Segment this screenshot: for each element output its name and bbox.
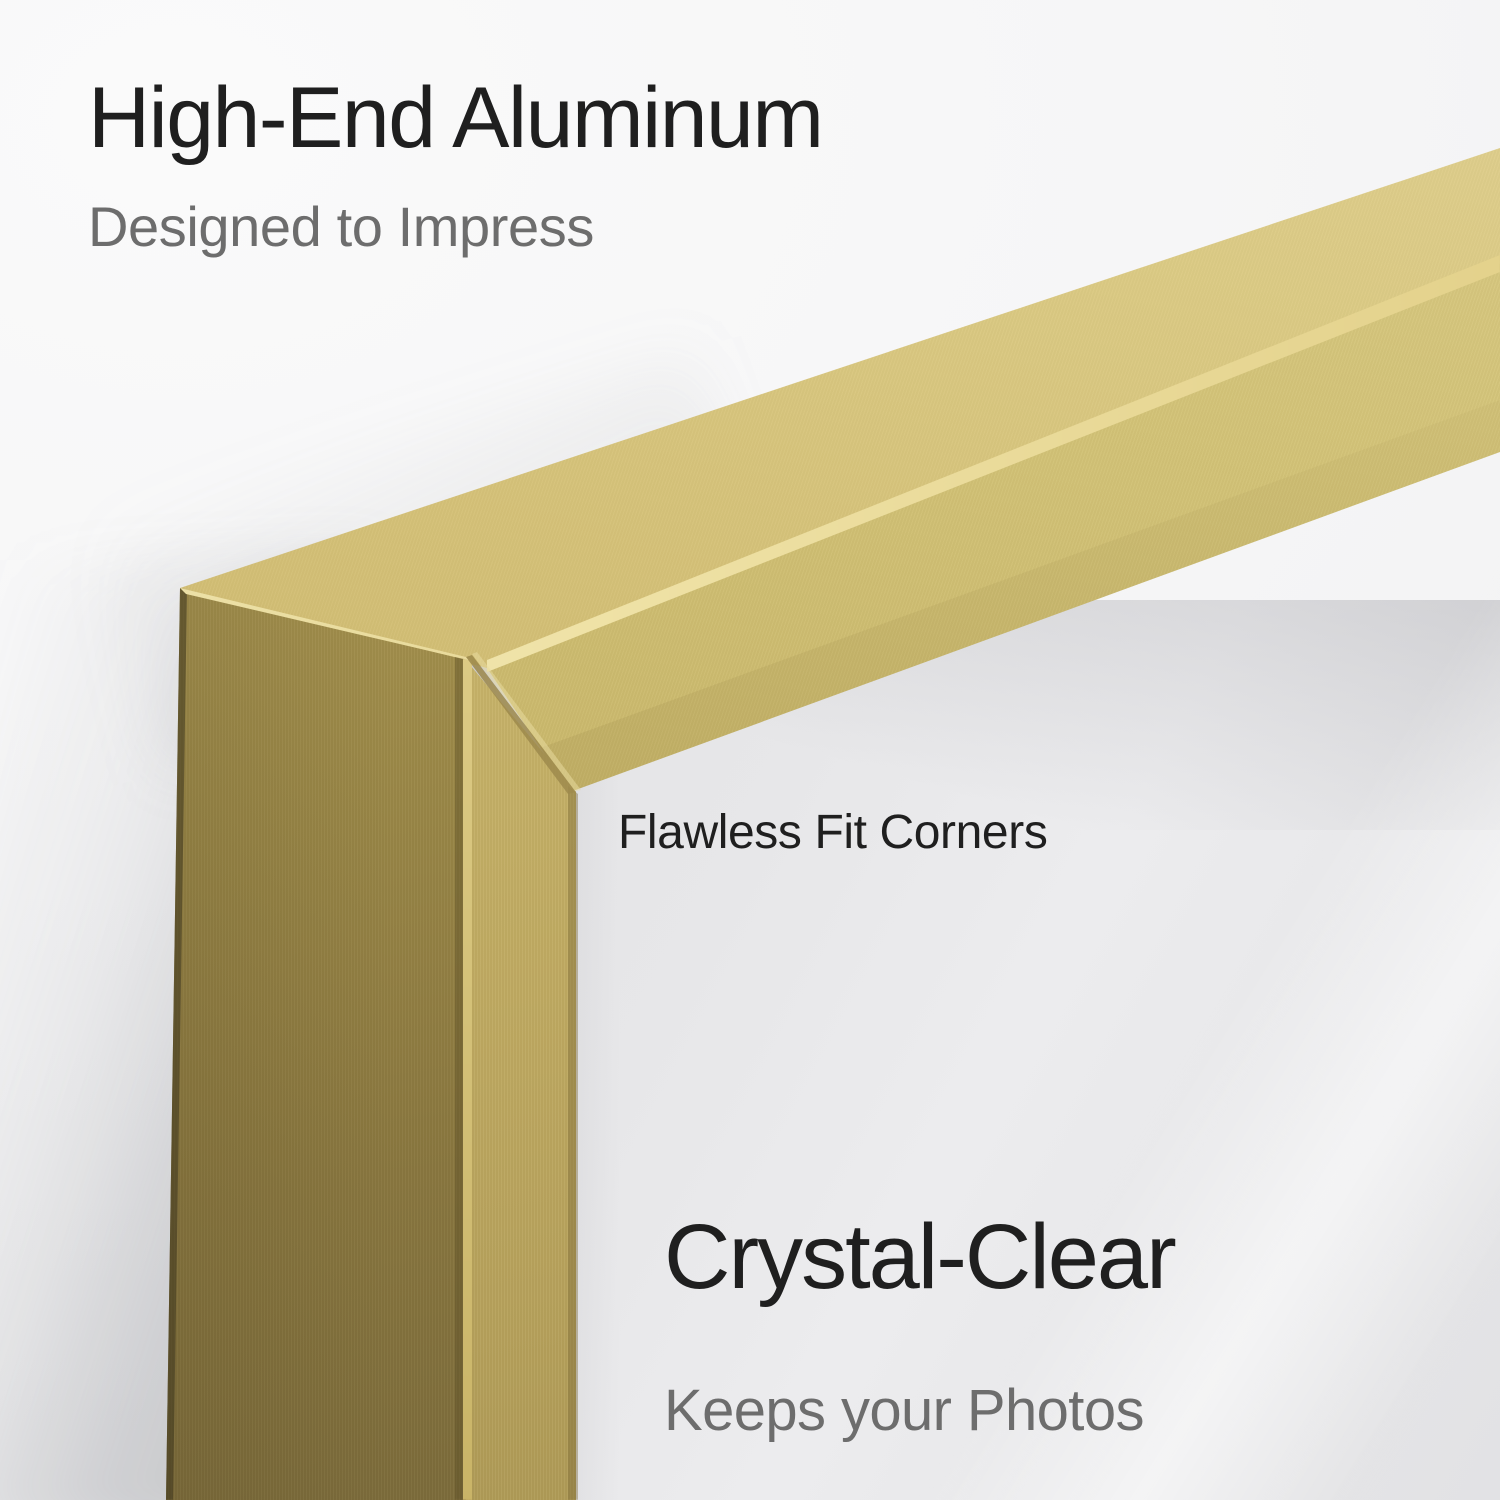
page-subtitle: Designed to Impress (88, 196, 594, 259)
callout-tempered-glass-subtitle: Keeps your Photos Looking Sharp (664, 1240, 1144, 1500)
callout-glass-sub-line1: Keeps your Photos (664, 1377, 1144, 1445)
callout-flawless-fit-corners: Flawless Fit Corners (618, 806, 1047, 860)
product-feature-image: High-End Aluminum Designed to Impress Fl… (0, 0, 1500, 1500)
page-title: High-End Aluminum (88, 72, 823, 165)
